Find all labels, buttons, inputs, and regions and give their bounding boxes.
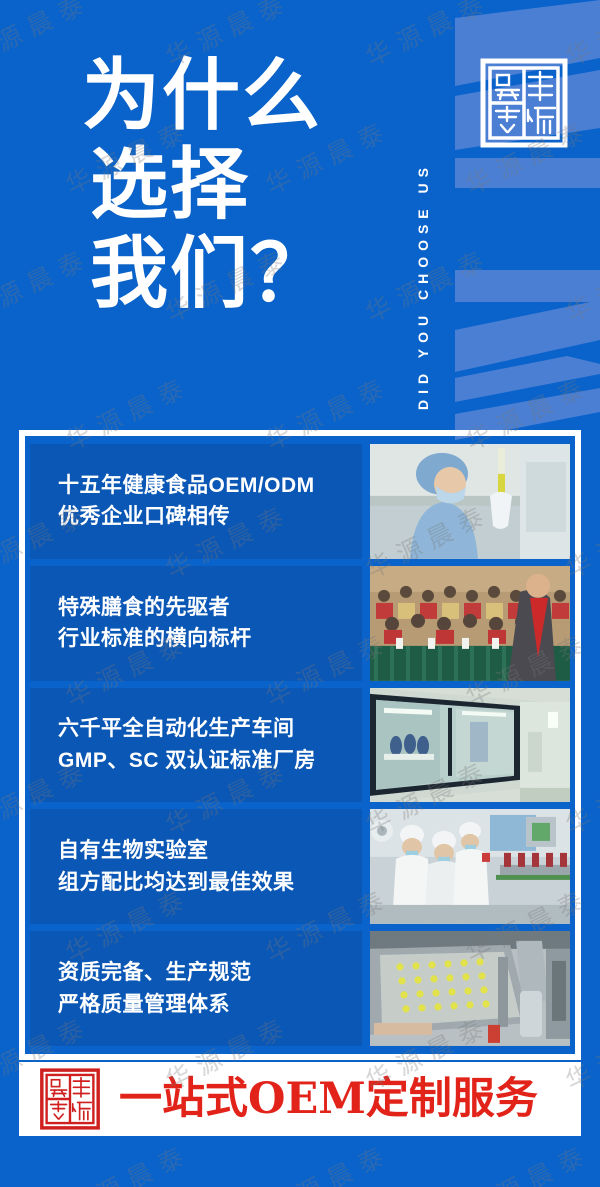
feature-card: 特殊膳食的先驱者 行业标准的横向标杆	[30, 566, 570, 681]
vertical-tagline-text: DID YOU CHOOSE US	[416, 162, 430, 410]
feature-card: 自有生物实验室 组方配比均达到最佳效果	[30, 809, 570, 924]
poster-headline: 为什么 选择 我们？	[82, 52, 412, 319]
company-seal-logo-red	[33, 1066, 107, 1132]
watermark-text: 华源晨泰	[59, 1134, 197, 1187]
feature-line-1: 特殊膳食的先驱者	[58, 592, 362, 624]
feature-card-list: 十五年健康食品OEM/ODM 优秀企业口碑相传	[30, 444, 570, 1046]
headline-line-1: 为什么	[82, 52, 412, 141]
feature-card-text: 资质完备、生产规范 严格质量管理体系	[30, 931, 362, 1046]
feature-photo-conference-audience-hall	[370, 566, 570, 681]
feature-card-text: 自有生物实验室 组方配比均达到最佳效果	[30, 809, 362, 924]
feature-card-text: 六千平全自动化生产车间 GMP、SC 双认证标准厂房	[30, 688, 362, 803]
feature-line-2: 优秀企业口碑相传	[58, 501, 362, 533]
feature-line-1: 十五年健康食品OEM/ODM	[58, 470, 362, 502]
headline-line-2: 选择	[90, 141, 412, 230]
feature-card: 十五年健康食品OEM/ODM 优秀企业口碑相传	[30, 444, 570, 559]
feature-line-2: 行业标准的横向标杆	[58, 623, 362, 655]
bottom-slogan-banner: 一站式OEM定制服务	[19, 1062, 581, 1136]
feature-line-1: 资质完备、生产规范	[58, 957, 362, 989]
feature-line-1: 自有生物实验室	[58, 835, 362, 867]
feature-card: 六千平全自动化生产车间 GMP、SC 双认证标准厂房	[30, 688, 570, 803]
slogan-text: 一站式OEM定制服务	[119, 1078, 538, 1121]
watermark-text: 华源晨泰	[459, 1134, 597, 1187]
feature-line-2: 组方配比均达到最佳效果	[58, 867, 362, 899]
feature-photo-lab-technician-pipetting	[370, 444, 570, 559]
poster-root: DID YOU CHOOSE US	[0, 0, 600, 1187]
company-seal-logo-white	[478, 55, 570, 151]
feature-photo-clean-room-production-corridor	[370, 688, 570, 803]
feature-card-text: 十五年健康食品OEM/ODM 优秀企业口碑相传	[30, 444, 362, 559]
feature-photo-technicians-at-filling-line	[370, 809, 570, 924]
headline-line-3: 我们？	[90, 230, 412, 319]
feature-card: 资质完备、生产规范 严格质量管理体系	[30, 931, 570, 1046]
feature-photo-blister-packaging-machine	[370, 931, 570, 1046]
feature-line-2: 严格质量管理体系	[58, 989, 362, 1021]
feature-card-text: 特殊膳食的先驱者 行业标准的横向标杆	[30, 566, 362, 681]
feature-line-2: GMP、SC 双认证标准厂房	[58, 745, 362, 777]
watermark-text: 华源晨泰	[259, 1134, 397, 1187]
feature-line-1: 六千平全自动化生产车间	[58, 713, 362, 745]
